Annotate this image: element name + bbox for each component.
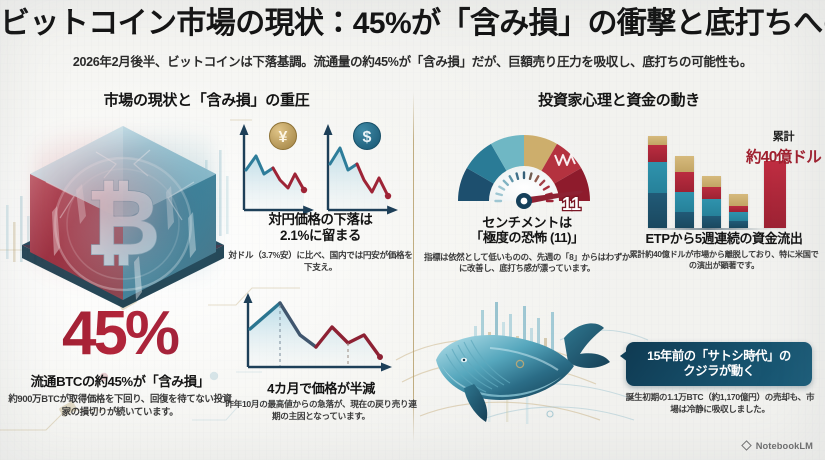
- bar-seg-teal: [729, 212, 748, 221]
- satoshi-callout: 15年前の「サトシ時代」の クジラが動く: [626, 342, 812, 386]
- bar-week-4: [729, 194, 748, 228]
- cumulative-value: 約40億ドル: [742, 145, 825, 167]
- gauge-value-text: 11: [562, 194, 581, 214]
- fx-caption: 対円価格の下落は 2.1%に留まる: [228, 212, 413, 243]
- jpy-chart: ¥: [240, 123, 315, 215]
- notebooklm-icon: [741, 440, 752, 451]
- bar-cumulative: [764, 161, 786, 228]
- satoshi-callout-line1: 15年前の「サトシ時代」の: [647, 349, 791, 364]
- bar-week-2: [675, 156, 694, 228]
- gauge-sub: 指標は依然として低いものの、先週の「8」からはわずかに改善し、底打ち感が漂ってい…: [424, 252, 630, 275]
- gauge-svg: 11: [455, 113, 593, 215]
- bar-seg-navy: [702, 216, 721, 228]
- bar-seg-teal: [648, 162, 667, 193]
- halving-chart-svg: [234, 291, 404, 378]
- bars-baseline: [646, 228, 770, 230]
- price-halving-chart: [234, 291, 404, 378]
- percent-caption: 流通BTCの約45%が「含み損」: [6, 374, 234, 389]
- fx-chart-svg: ¥ $: [228, 118, 413, 218]
- watermark-label: NotebookLM: [756, 441, 813, 451]
- whale-illustration: [428, 292, 633, 452]
- gauge-caption: センチメントは 「極度の恐怖 (11)」: [432, 215, 622, 246]
- gauge-caption-line2: 「極度の恐怖 (11)」: [432, 230, 622, 245]
- frozen-bitcoin-cube: ₿: [16, 112, 231, 317]
- percent-sub: 約900万BTCが取得価格を下回り、回復を待てない投資家の損切りが続いています。: [6, 393, 234, 418]
- bar-seg-red: [729, 206, 748, 213]
- fx-comparison-charts: ¥ $: [228, 118, 413, 218]
- bar-week-1: [648, 136, 667, 228]
- etp-sub: 累計約40億ドルが市場から離脱しており、特に米国での演出が顕著です。: [628, 249, 820, 271]
- page-title: ビットコイン市場の現状：45%が「含み損」の衝撃と底打ちへの期待: [0, 9, 825, 39]
- watermark: NotebookLM: [741, 440, 813, 451]
- bar-seg-red-total: [764, 161, 786, 228]
- fx-caption-line1: 対円価格の下落は: [228, 212, 413, 228]
- fx-caption-line2: 2.1%に留まる: [228, 228, 413, 244]
- bar-seg-red: [702, 187, 721, 198]
- bar-seg-navy: [729, 221, 748, 228]
- right-panel-title: 投資家心理と資金の動き: [413, 89, 825, 110]
- left-panel-title: 市場の現状と「含み損」の重圧: [0, 89, 413, 110]
- bar-seg-navy: [648, 193, 667, 228]
- bar-week-3: [702, 176, 721, 228]
- usd-chart: $: [324, 123, 399, 215]
- bar-seg-red: [675, 172, 694, 192]
- cube-glow: [33, 128, 214, 300]
- bar-seg-gold: [675, 156, 694, 172]
- cumulative-label: 累計: [742, 128, 825, 144]
- bar-seg-gold: [702, 176, 721, 187]
- yen-symbol: ¥: [279, 129, 288, 146]
- gauge-caption-line1: センチメントは: [432, 215, 622, 230]
- whale-tail: [564, 323, 610, 368]
- etp-caption: ETPから5週連続の資金流出: [624, 231, 824, 246]
- infographic-canvas: ビットコイン市場の現状：45%が「含み損」の衝撃と底打ちへの期待 2026年2月…: [0, 0, 825, 460]
- bar-seg-teal: [675, 192, 694, 212]
- bar-seg-gold: [648, 136, 667, 145]
- fx-sub: 対ドル（3.7%安）に比べ、国内では円安が価格を下支え。: [226, 250, 415, 273]
- bar-seg-red: [648, 145, 667, 162]
- satoshi-callout-text: 15年前の「サトシ時代」の クジラが動く: [647, 349, 791, 380]
- page-subtitle: 2026年2月後半、ビットコインは下落基調。流通量の約45%が「含み損」だが、巨…: [0, 51, 825, 70]
- halving-caption: 4カ月で価格が半減: [228, 381, 414, 396]
- sentiment-gauge: 11: [455, 113, 593, 215]
- whale-svg: [428, 292, 633, 452]
- cumulative-callout: 累計 約40億ドル: [742, 128, 825, 167]
- bar-seg-teal: [702, 199, 721, 216]
- header: ビットコイン市場の現状：45%が「含み損」の衝撃と底打ちへの期待 2026年2月…: [0, 0, 825, 82]
- percent-value: 45%: [12, 305, 227, 362]
- satoshi-sub: 誕生初期の1.1万BTC（約1,170億円）の売却も、市場は冷静に吸収しました。: [622, 392, 818, 415]
- bar-seg-gold: [729, 194, 748, 206]
- bar-seg-navy: [675, 212, 694, 228]
- satoshi-callout-line2: クジラが動く: [647, 364, 791, 379]
- dollar-symbol: $: [363, 129, 372, 146]
- halving-sub: 昨年10月の最高値からの急落が、現在の戻り売り連期の主因となっています。: [224, 399, 418, 422]
